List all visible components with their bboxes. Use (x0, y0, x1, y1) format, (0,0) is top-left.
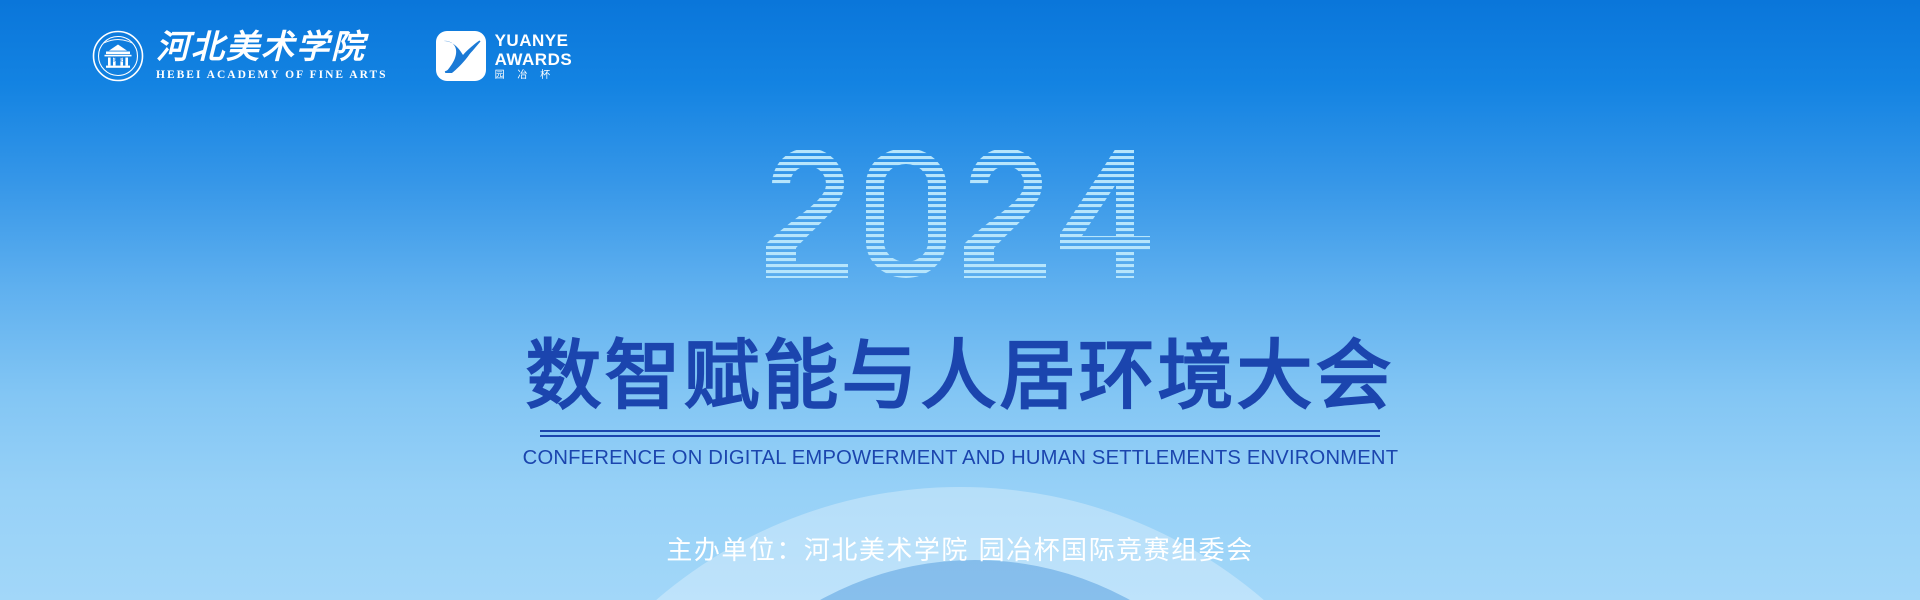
hebei-wordmark: 河北美术学院 HEBEI ACADEMY OF FINE ARTS (156, 31, 388, 81)
yuanye-line1: YUANYE (495, 32, 573, 49)
logo-yuanye-awards[interactable]: YUANYE AWARDS 园 冶 杯 (436, 31, 573, 81)
organizer-line: 主办单位：河北美术学院 园冶杯国际竞赛组委会 (0, 530, 1920, 567)
decorative-arcs (0, 0, 1920, 600)
conference-title-en: CONFERENCE ON DIGITAL EMPOWERMENT AND HU… (522, 446, 1398, 470)
year-2024-svg (760, 138, 1160, 290)
hebei-seal-icon: 美院 (92, 30, 144, 82)
yuanye-line2: AWARDS (495, 51, 573, 68)
year-graphic (0, 138, 1920, 290)
title-divider (540, 430, 1380, 437)
yuanye-wordmark: YUANYE AWARDS 园 冶 杯 (495, 32, 573, 81)
conference-banner: { "banner": { "background": { "top_color… (0, 0, 1920, 600)
divider-line-top (540, 430, 1380, 432)
title-block: 数智赋能与人居环境大会 CONFERENCE ON DIGITAL EMPOWE… (0, 336, 1920, 470)
logo-hebei-academy[interactable]: 美院 河北美术学院 HEBEI ACADEMY OF FINE ARTS (92, 30, 388, 82)
hebei-name-en: HEBEI ACADEMY OF FINE ARTS (156, 69, 388, 81)
logo-bar: 美院 河北美术学院 HEBEI ACADEMY OF FINE ARTS YUA… (92, 30, 572, 82)
svg-text:美院: 美院 (113, 57, 123, 64)
conference-title-cn: 数智赋能与人居环境大会 (526, 336, 1395, 416)
yuanye-leaf-icon (436, 31, 486, 81)
yuanye-line3: 园 冶 杯 (495, 71, 573, 81)
divider-line-bottom (540, 435, 1380, 437)
hebei-name-cn: 河北美术学院 (156, 31, 388, 66)
